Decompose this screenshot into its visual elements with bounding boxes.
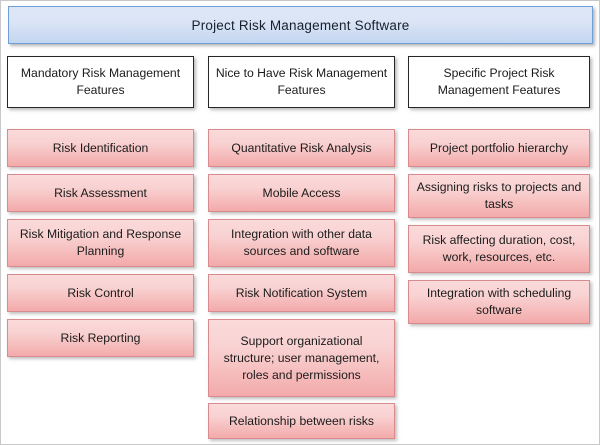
feature-box-label: Relationship between risks: [229, 413, 374, 430]
column-header-label: Mandatory Risk Management Features: [14, 65, 187, 99]
column-header-label: Nice to Have Risk Management Features: [215, 65, 388, 99]
feature-box-label: Mobile Access: [263, 185, 341, 202]
column-header-label: Specific Project Risk Management Feature…: [415, 65, 583, 99]
feature-box[interactable]: Integration with scheduling software: [408, 280, 590, 324]
feature-box-label: Risk Mitigation and Response Planning: [15, 226, 186, 260]
feature-box[interactable]: Project portfolio hierarchy: [408, 129, 590, 167]
feature-box[interactable]: Quantitative Risk Analysis: [208, 129, 395, 167]
column-header-mandatory: Mandatory Risk Management Features: [7, 56, 194, 108]
feature-box-label: Risk Control: [67, 285, 133, 302]
feature-box-label: Risk Reporting: [61, 330, 141, 347]
page-title: Project Risk Management Software: [192, 18, 410, 33]
feature-box-label: Support organizational structure; user m…: [216, 333, 387, 384]
feature-box-label: Assigning risks to projects and tasks: [416, 179, 582, 213]
title-banner: Project Risk Management Software: [8, 6, 593, 44]
feature-box[interactable]: Risk Identification: [7, 129, 194, 167]
feature-box[interactable]: Mobile Access: [208, 174, 395, 212]
feature-box[interactable]: Integration with other data sources and …: [208, 219, 395, 267]
feature-box[interactable]: Risk Control: [7, 274, 194, 312]
feature-box[interactable]: Risk Mitigation and Response Planning: [7, 219, 194, 267]
diagram-canvas: Project Risk Management Software Mandato…: [0, 0, 600, 445]
feature-box-label: Risk Notification System: [236, 285, 367, 302]
feature-box-label: Integration with other data sources and …: [216, 226, 387, 260]
feature-box[interactable]: Risk Notification System: [208, 274, 395, 312]
feature-box[interactable]: Support organizational structure; user m…: [208, 319, 395, 397]
feature-box-label: Risk Assessment: [54, 185, 147, 202]
column-header-nice-to-have: Nice to Have Risk Management Features: [208, 56, 395, 108]
feature-box-label: Integration with scheduling software: [416, 285, 582, 319]
column-header-specific-project: Specific Project Risk Management Feature…: [408, 56, 590, 108]
feature-box-label: Risk Identification: [53, 140, 149, 157]
feature-box[interactable]: Assigning risks to projects and tasks: [408, 174, 590, 218]
feature-box-label: Risk affecting duration, cost, work, res…: [416, 232, 582, 266]
feature-box[interactable]: Risk affecting duration, cost, work, res…: [408, 225, 590, 273]
feature-box[interactable]: Relationship between risks: [208, 403, 395, 439]
feature-box[interactable]: Risk Reporting: [7, 319, 194, 357]
feature-box[interactable]: Risk Assessment: [7, 174, 194, 212]
feature-box-label: Project portfolio hierarchy: [430, 140, 568, 157]
feature-box-label: Quantitative Risk Analysis: [231, 140, 371, 157]
